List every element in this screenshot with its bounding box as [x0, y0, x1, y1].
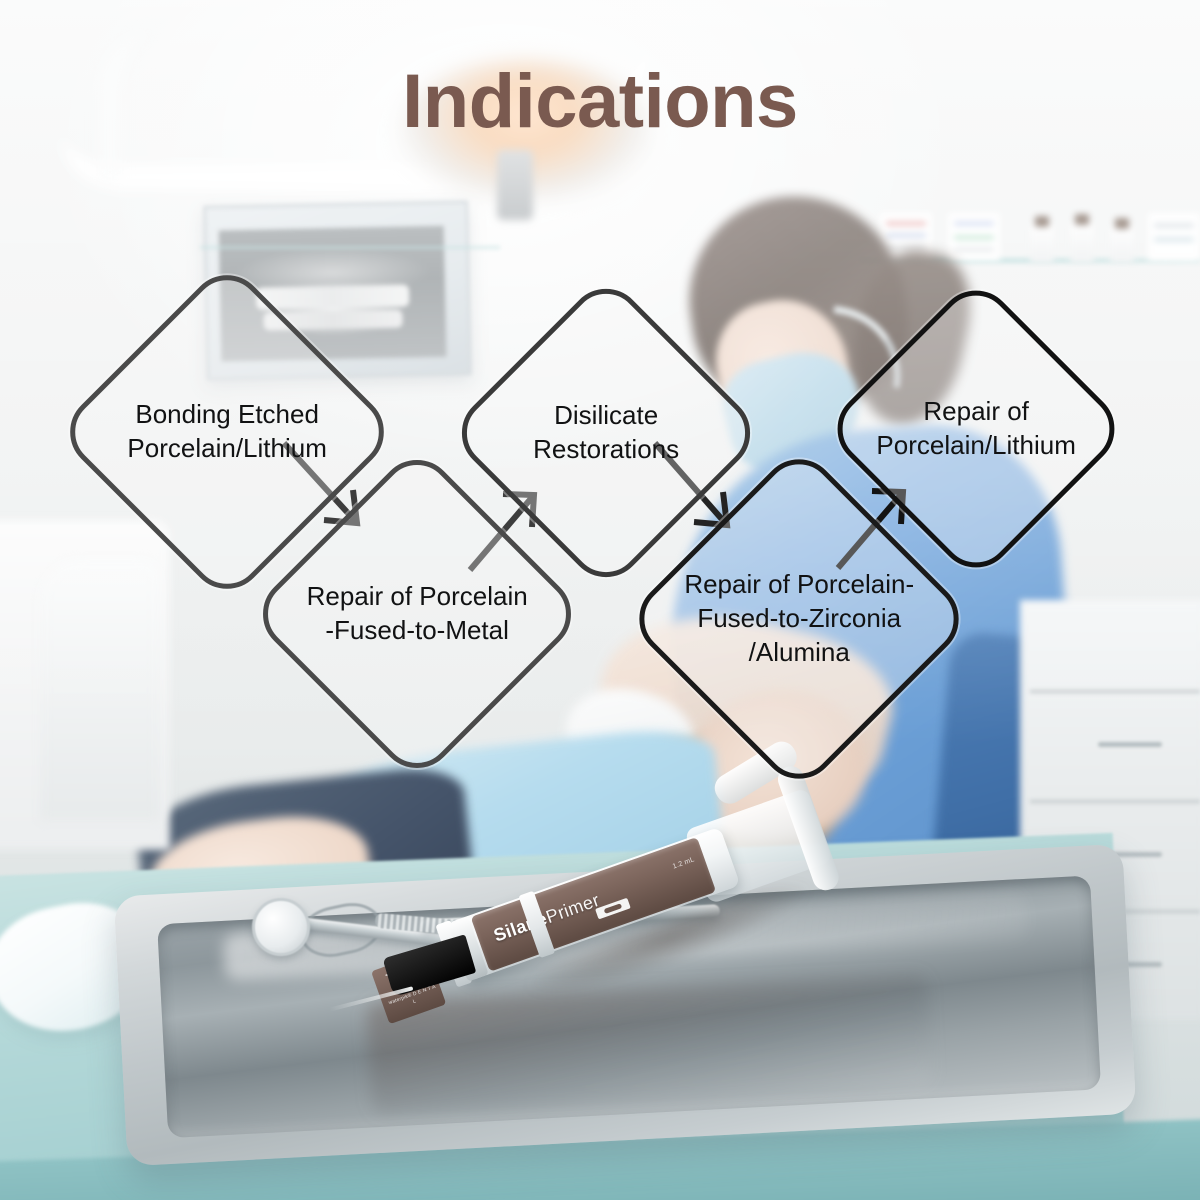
diagram-node-1-label: Bonding Etched Porcelain/Lithium — [110, 398, 344, 466]
diagram-node-5-label: Repair of Porcelain/Lithium — [872, 395, 1080, 463]
flow-arrows — [0, 0, 1200, 1200]
diagram-node-3-label: Disilicate Restorations — [498, 399, 714, 467]
diagram-node-2-label: Repair of Porcelain -Fused-to-Metal — [302, 580, 532, 648]
indications-flow-diagram: Bonding Etched Porcelain/Lithium Repair … — [0, 0, 1200, 1200]
diagram-node-4-label: Repair of Porcelain- Fused-to-Zirconia /… — [680, 568, 918, 669]
